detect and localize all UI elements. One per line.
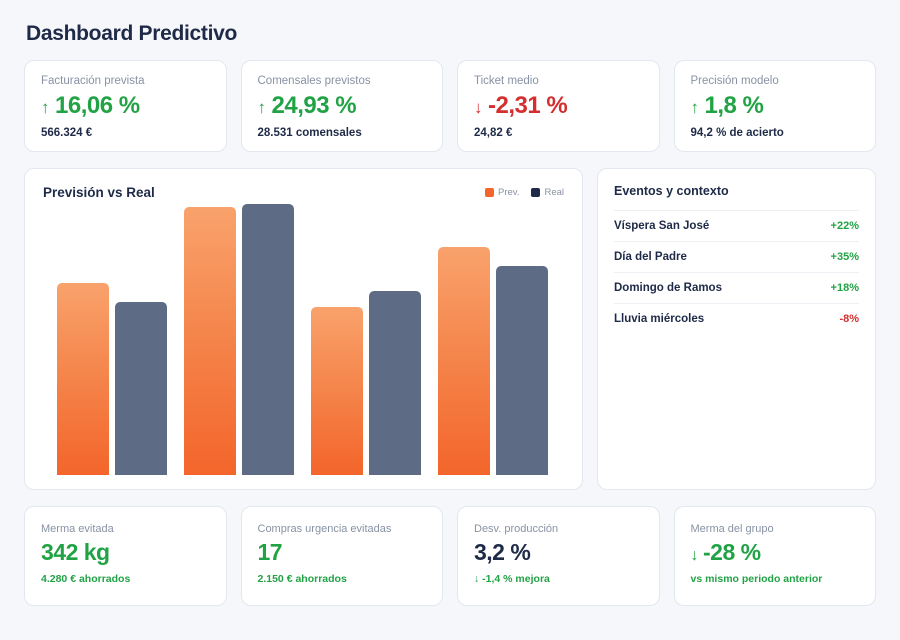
event-delta: +18%	[831, 282, 859, 294]
bar-group	[311, 204, 421, 475]
kpi-label: Facturación prevista	[41, 75, 210, 87]
event-name: Lluvia miércoles	[614, 313, 704, 325]
kpi-label: Precisión modelo	[691, 75, 860, 87]
stat-value: 342 kg	[41, 539, 210, 566]
kpi-row: Facturación prevista ↑ 16,06 % 566.324 €…	[24, 60, 876, 152]
legend-label-prev: Prev.	[498, 187, 519, 198]
event-row[interactable]: Víspera San José +22%	[614, 210, 859, 241]
event-name: Domingo de Ramos	[614, 282, 722, 294]
kpi-value-text: -2,31 %	[488, 92, 567, 120]
kpi-sub: 94,2 % de acierto	[691, 127, 860, 139]
stat-label: Merma del grupo	[691, 523, 860, 535]
bar-chart-plot	[43, 204, 564, 475]
stat-card-merma-evitada[interactable]: Merma evitada 342 kg 4.280 € ahorrados	[24, 506, 227, 606]
legend-item-prev[interactable]: Prev.	[485, 187, 519, 198]
event-delta: -8%	[839, 313, 859, 325]
event-delta: +35%	[831, 251, 859, 263]
stat-value-text: 342 kg	[41, 539, 110, 566]
stat-sub: vs mismo periodo anterior	[691, 573, 860, 585]
kpi-label: Comensales previstos	[258, 75, 427, 87]
chart-card-prevision-vs-real: Previsión vs Real Prev. Real	[24, 168, 583, 490]
stat-label: Compras urgencia evitadas	[258, 523, 427, 535]
bar-prev[interactable]	[311, 307, 363, 475]
stat-sub: 2.150 € ahorrados	[258, 573, 427, 585]
event-name: Día del Padre	[614, 251, 687, 263]
stat-label: Merma evitada	[41, 523, 210, 535]
events-list: Víspera San José +22% Día del Padre +35%…	[614, 210, 859, 334]
kpi-label: Ticket medio	[474, 75, 643, 87]
legend-swatch-real	[531, 188, 540, 197]
bar-real[interactable]	[369, 291, 421, 475]
stat-value-text: 17	[258, 539, 283, 566]
stat-row: Merma evitada 342 kg 4.280 € ahorrados C…	[24, 506, 876, 606]
stat-sub: ↓ -1,4 % mejora	[474, 573, 643, 585]
bar-real[interactable]	[242, 204, 294, 475]
trend-down-icon: ↓	[474, 98, 482, 118]
stat-card-compras-urgencia-evitadas[interactable]: Compras urgencia evitadas 17 2.150 € aho…	[241, 506, 444, 606]
kpi-value-text: 16,06 %	[55, 92, 140, 120]
legend-swatch-prev	[485, 188, 494, 197]
kpi-value-text: 1,8 %	[705, 92, 764, 120]
event-delta: +22%	[831, 220, 859, 232]
trend-up-icon: ↑	[41, 98, 49, 118]
kpi-value: ↑ 24,93 %	[258, 92, 427, 120]
event-row[interactable]: Lluvia miércoles -8%	[614, 303, 859, 334]
bar-group	[438, 204, 548, 475]
events-card: Eventos y contexto Víspera San José +22%…	[597, 168, 876, 490]
dashboard-page: Dashboard Predictivo Facturación previst…	[0, 0, 900, 640]
kpi-card-comensales-previstos[interactable]: Comensales previstos ↑ 24,93 % 28.531 co…	[241, 60, 444, 152]
page-title: Dashboard Predictivo	[26, 22, 876, 46]
stat-value: 3,2 %	[474, 539, 643, 566]
bar-group	[184, 204, 294, 475]
stat-card-merma-del-grupo[interactable]: Merma del grupo ↓ -28 % vs mismo periodo…	[674, 506, 877, 606]
kpi-value-text: 24,93 %	[272, 92, 357, 120]
legend-label-real: Real	[544, 187, 564, 198]
bar-group	[57, 204, 167, 475]
legend-item-real[interactable]: Real	[531, 187, 564, 198]
trend-down-icon: ↓	[691, 547, 699, 565]
trend-up-icon: ↑	[691, 98, 699, 118]
kpi-value: ↑ 16,06 %	[41, 92, 210, 120]
event-name: Víspera San José	[614, 220, 709, 232]
kpi-card-facturacion-prevista[interactable]: Facturación prevista ↑ 16,06 % 566.324 €	[24, 60, 227, 152]
kpi-sub: 28.531 comensales	[258, 127, 427, 139]
middle-row: Previsión vs Real Prev. Real Eventos y c…	[24, 168, 876, 490]
bar-prev[interactable]	[184, 207, 236, 475]
chart-title: Previsión vs Real	[43, 185, 155, 200]
stat-value-text: 3,2 %	[474, 539, 530, 566]
kpi-value: ↑ 1,8 %	[691, 92, 860, 120]
stat-label: Desv. producción	[474, 523, 643, 535]
kpi-card-precision-modelo[interactable]: Precisión modelo ↑ 1,8 % 94,2 % de acier…	[674, 60, 877, 152]
event-row[interactable]: Domingo de Ramos +18%	[614, 272, 859, 303]
chart-legend: Prev. Real	[485, 187, 564, 198]
bar-real[interactable]	[496, 266, 548, 475]
stat-sub: 4.280 € ahorrados	[41, 573, 210, 585]
stat-value: 17	[258, 539, 427, 566]
stat-card-desv-produccion[interactable]: Desv. producción 3,2 % ↓ -1,4 % mejora	[457, 506, 660, 606]
kpi-sub: 24,82 €	[474, 127, 643, 139]
kpi-card-ticket-medio[interactable]: Ticket medio ↓ -2,31 % 24,82 €	[457, 60, 660, 152]
stat-value: ↓ -28 %	[691, 539, 860, 566]
kpi-value: ↓ -2,31 %	[474, 92, 643, 120]
stat-value-text: -28 %	[703, 539, 761, 566]
events-title: Eventos y contexto	[614, 184, 859, 198]
kpi-sub: 566.324 €	[41, 127, 210, 139]
chart-header: Previsión vs Real Prev. Real	[43, 185, 564, 200]
bar-prev[interactable]	[438, 247, 490, 475]
trend-up-icon: ↑	[258, 98, 266, 118]
bar-real[interactable]	[115, 302, 167, 475]
bar-prev[interactable]	[57, 283, 109, 475]
event-row[interactable]: Día del Padre +35%	[614, 241, 859, 272]
